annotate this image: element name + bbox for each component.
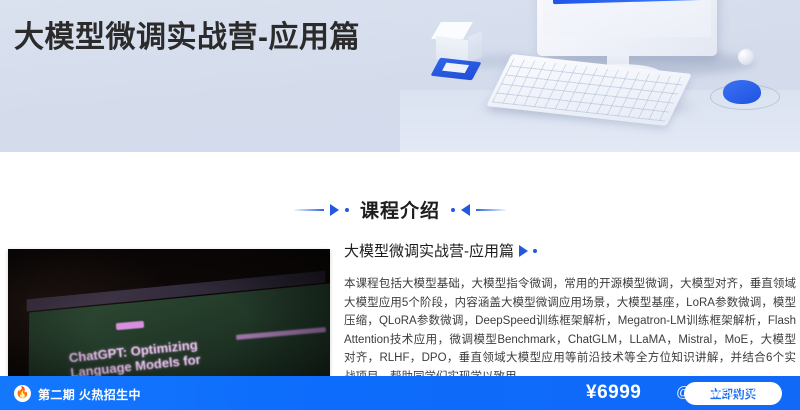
isometric-desktop-computer-illustration — [400, 0, 800, 152]
hero-banner: 大模型微调实战营-应用篇 — [0, 0, 800, 152]
monitor-icon — [537, 0, 717, 56]
promo-label: 第二期 火热招生中 — [38, 386, 141, 403]
course-landing-page: 大模型微调实战营-应用篇 — [0, 0, 800, 410]
mouse-icon — [723, 80, 761, 104]
sphere-icon — [738, 49, 754, 65]
triangle-right-icon — [519, 245, 528, 257]
section-title: 课程介绍 — [360, 196, 440, 223]
buy-now-button[interactable]: 立即购买 — [684, 382, 782, 405]
monitor-screen — [543, 0, 711, 37]
triangle-left-icon — [461, 204, 470, 216]
deco-line-left-icon — [294, 209, 324, 211]
course-title-row: 大模型微调实战营-应用篇 — [344, 240, 796, 261]
blue-tray-icon — [430, 58, 481, 81]
dot-right-icon — [451, 208, 455, 212]
triangle-right-icon — [330, 204, 339, 216]
price-label: ¥6999 — [586, 382, 641, 404]
course-title: 大模型微调实战营-应用篇 — [344, 240, 514, 261]
section-heading: 课程介绍 — [0, 196, 800, 223]
course-description: 本课程包括大模型基础，大模型指令微调，常用的开源模型微调，大模型对齐，垂直领域大… — [344, 275, 796, 386]
screen-highlight-bar — [553, 0, 705, 4]
thumbnail-vignette — [8, 249, 330, 385]
page-title: 大模型微调实战营-应用篇 — [14, 12, 360, 56]
flame-icon: 🔥 — [14, 385, 31, 402]
sticky-purchase-bar: 🔥 第二期 火热招生中 ¥6999 立即购买 — [0, 376, 800, 410]
dot-left-icon — [345, 208, 349, 212]
course-thumbnail[interactable]: ChatGPT: Optimizing Language Models for … — [8, 249, 330, 385]
dot-icon — [533, 249, 537, 253]
flame-glyph: 🔥 — [16, 388, 30, 399]
course-detail: 大模型微调实战营-应用篇 本课程包括大模型基础，大模型指令微调，常用的开源模型微… — [344, 240, 796, 386]
deco-line-right-icon — [476, 209, 506, 211]
